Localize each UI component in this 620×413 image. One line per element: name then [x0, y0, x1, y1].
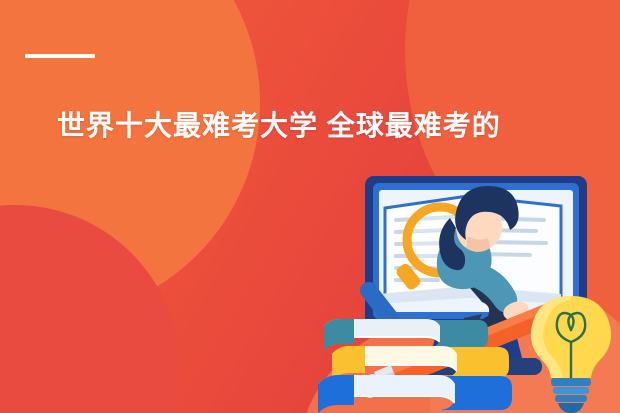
title-rule-decoration	[25, 54, 95, 58]
article-cover-banner: 世界十大最难考大学 全球最难考的	[0, 0, 620, 413]
lightbulb-icon	[531, 296, 611, 413]
page-title: 世界十大最难考大学 全球最难考的	[57, 108, 597, 144]
book-stack-icon	[318, 319, 512, 413]
study-research-illustration	[318, 168, 620, 413]
